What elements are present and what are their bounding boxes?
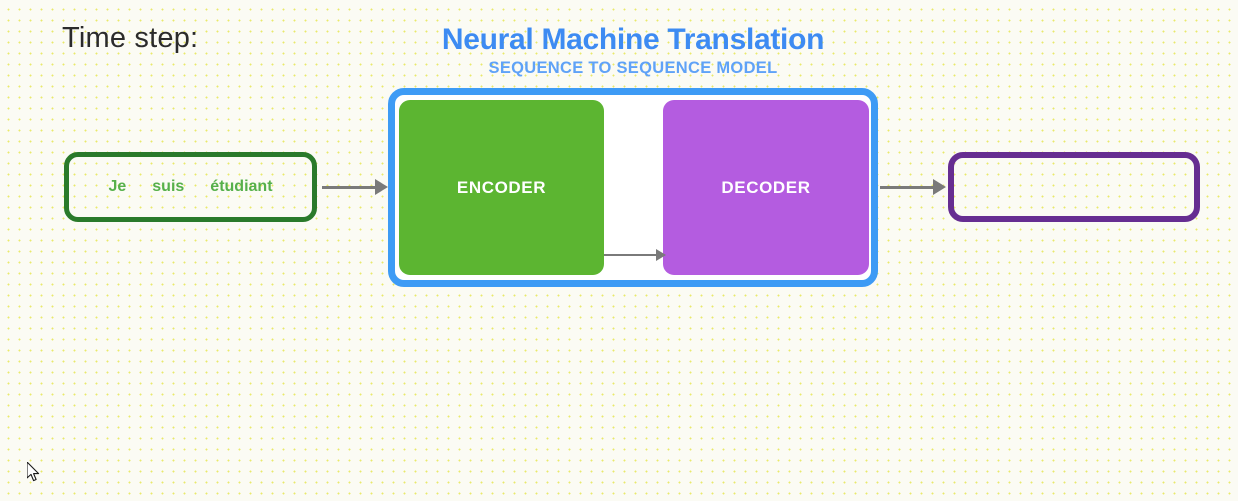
page-subtitle: SEQUENCE TO SEQUENCE MODEL bbox=[388, 59, 878, 78]
source-sentence-box: Je suis étudiant bbox=[64, 152, 317, 222]
arrow-shaft bbox=[604, 254, 657, 256]
source-token: Je bbox=[108, 178, 126, 196]
source-token-list: Je suis étudiant bbox=[108, 178, 272, 196]
arrow-model-to-output-icon bbox=[880, 179, 946, 195]
source-token: étudiant bbox=[210, 178, 272, 196]
source-token: suis bbox=[152, 178, 184, 196]
time-step-label: Time step: bbox=[62, 22, 198, 55]
arrow-source-to-model-icon bbox=[322, 179, 388, 195]
arrow-head bbox=[656, 249, 666, 261]
arrow-head bbox=[375, 179, 388, 195]
arrow-shaft bbox=[322, 186, 376, 189]
diagram-title-block: Neural Machine Translation SEQUENCE TO S… bbox=[388, 24, 878, 78]
arrow-encoder-to-decoder-icon bbox=[604, 249, 666, 261]
page-title: Neural Machine Translation bbox=[388, 24, 878, 56]
arrow-shaft bbox=[880, 186, 934, 189]
output-sentence-box bbox=[948, 152, 1200, 222]
arrow-head bbox=[933, 179, 946, 195]
decoder-label: DECODER bbox=[721, 178, 810, 198]
encoder-label: ENCODER bbox=[457, 178, 546, 198]
mouse-pointer-icon bbox=[27, 462, 41, 483]
decoder-block: DECODER bbox=[663, 100, 869, 275]
encoder-block: ENCODER bbox=[399, 100, 604, 275]
